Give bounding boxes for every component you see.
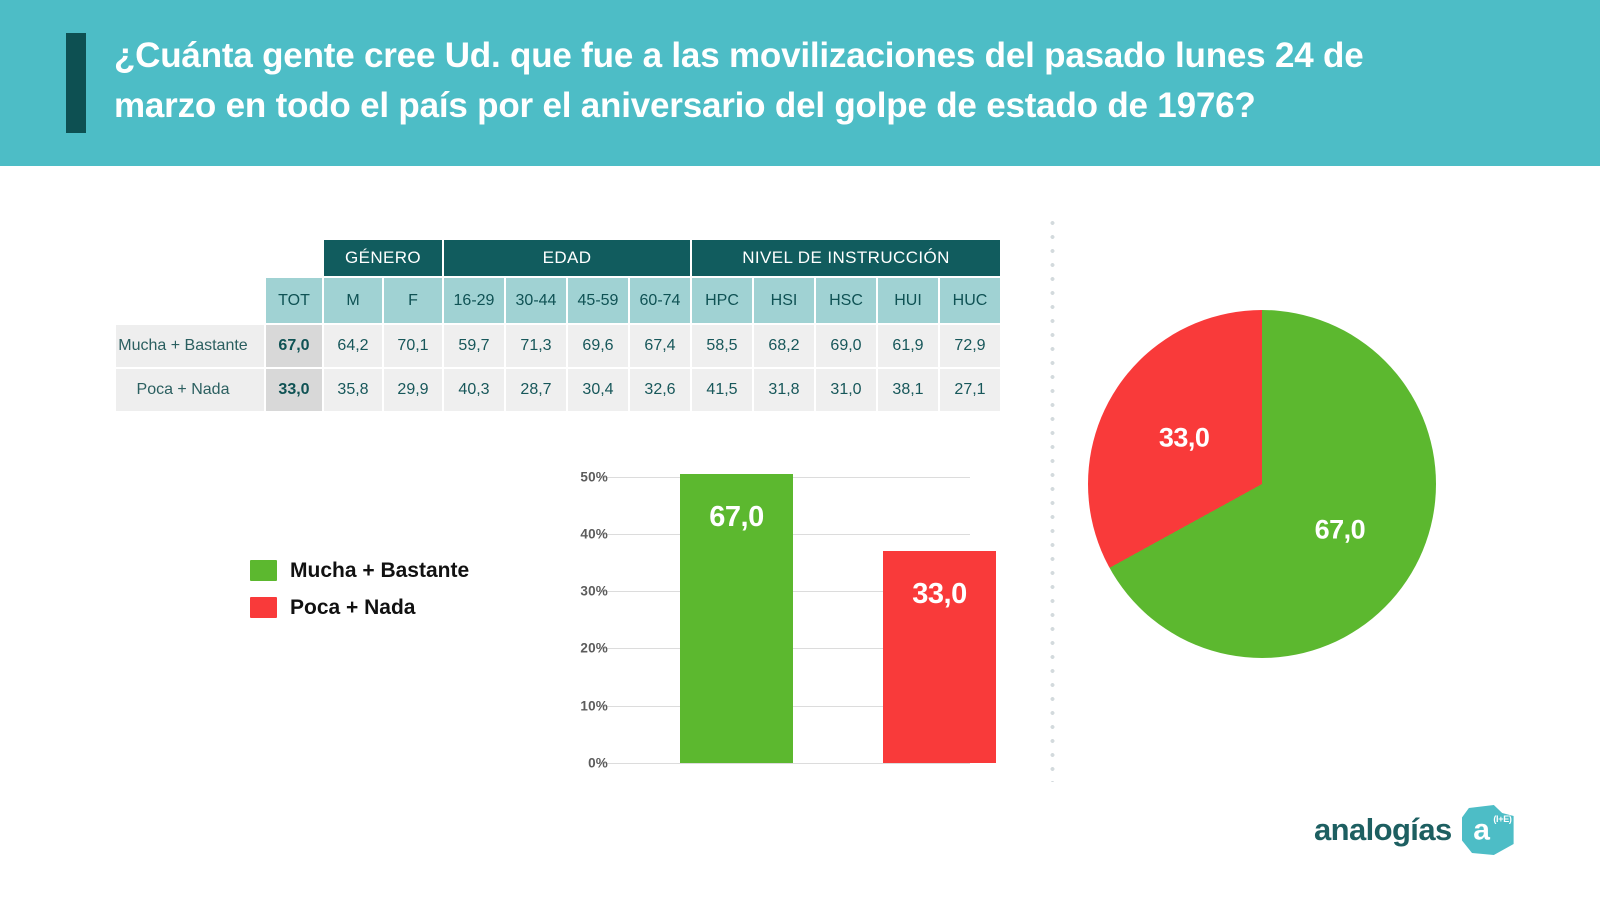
pie-chart: 67,0 33,0: [1088, 310, 1436, 658]
cell-poca-hui: 38,1: [878, 369, 938, 411]
group-header-nivel-instruccion: NIVEL DE INSTRUCCIÓN: [692, 240, 1000, 276]
cell-poca-f: 29,9: [384, 369, 442, 411]
group-header-edad: EDAD: [444, 240, 690, 276]
cell-poca-16-29: 40,3: [444, 369, 504, 411]
column-header-hui: HUI: [878, 278, 938, 323]
pie-slice-label-poca-nada: 33,0: [1159, 422, 1210, 453]
legend-swatch-red: [250, 597, 277, 618]
bar-poca-nada: 33,0: [883, 551, 996, 763]
table-row: Mucha + Bastante 67,0 64,2 70,1 59,7 71,…: [116, 325, 1000, 367]
cell-poca-30-44: 28,7: [506, 369, 566, 411]
group-header-genero: GÉNERO: [324, 240, 442, 276]
cell-mucha-m: 64,2: [324, 325, 382, 367]
cell-mucha-30-44: 71,3: [506, 325, 566, 367]
legend-label-poca-nada: Poca + Nada: [290, 596, 415, 620]
bar-mucha-bastante: 67,0: [680, 474, 793, 763]
column-header-16-29: 16-29: [444, 278, 504, 323]
header-banner: ¿Cuánta gente cree Ud. que fue a las mov…: [0, 0, 1600, 166]
cell-mucha-f: 70,1: [384, 325, 442, 367]
cell-mucha-huc: 72,9: [940, 325, 1000, 367]
infographic-page: ¿Cuánta gente cree Ud. que fue a las mov…: [0, 0, 1600, 909]
cell-poca-45-59: 30,4: [568, 369, 628, 411]
column-header-30-44: 30-44: [506, 278, 566, 323]
y-axis-label-30pct: 30%: [560, 584, 608, 599]
group-header-blank-label: [116, 240, 264, 276]
column-header-hsi: HSI: [754, 278, 814, 323]
cell-mucha-hpc: 58,5: [692, 325, 752, 367]
row-label-poca-nada: Poca + Nada: [116, 369, 264, 411]
cell-mucha-45-59: 69,6: [568, 325, 628, 367]
logo-wordmark: analogías: [1314, 812, 1452, 848]
bar-chart: 0%10%20%30%40%50%67,033,0: [560, 448, 970, 778]
header-accent-bar: [66, 33, 86, 133]
legend-swatch-green: [250, 560, 277, 581]
cell-mucha-hsc: 69,0: [816, 325, 876, 367]
cell-mucha-16-29: 59,7: [444, 325, 504, 367]
brand-logo: analogías a (I+E): [1314, 805, 1514, 855]
cell-poca-hpc: 41,5: [692, 369, 752, 411]
table-row: Poca + Nada 33,0 35,8 29,9 40,3 28,7 30,…: [116, 369, 1000, 411]
column-header-hsc: HSC: [816, 278, 876, 323]
column-header-45-59: 45-59: [568, 278, 628, 323]
y-axis-label-20pct: 20%: [560, 641, 608, 656]
column-header-60-74: 60-74: [630, 278, 690, 323]
y-axis-label-40pct: 40%: [560, 526, 608, 541]
page-title: ¿Cuánta gente cree Ud. que fue a las mov…: [114, 31, 1474, 130]
bar-chart-plot-area: 0%10%20%30%40%50%67,033,0: [620, 448, 970, 763]
cell-poca-huc: 27,1: [940, 369, 1000, 411]
y-axis-label-10pct: 10%: [560, 698, 608, 713]
y-axis-label-50pct: 50%: [560, 469, 608, 484]
cell-poca-m: 35,8: [324, 369, 382, 411]
column-header-blank: [116, 278, 264, 323]
legend-item-mucha-bastante: Mucha + Bastante: [250, 552, 469, 589]
cell-mucha-60-74: 67,4: [630, 325, 690, 367]
cell-mucha-tot: 67,0: [266, 325, 322, 367]
cell-mucha-hui: 61,9: [878, 325, 938, 367]
row-label-mucha-bastante: Mucha + Bastante: [116, 325, 264, 367]
y-axis-label-0pct: 0%: [560, 756, 608, 771]
crosstab: GÉNERO EDAD NIVEL DE INSTRUCCIÓN TOT M F…: [114, 238, 1002, 413]
legend-item-poca-nada: Poca + Nada: [250, 589, 469, 626]
gridline-40pct: [620, 534, 970, 535]
chart-legend: Mucha + Bastante Poca + Nada: [250, 552, 469, 626]
cell-poca-tot: 33,0: [266, 369, 322, 411]
group-header-blank-tot: [266, 240, 322, 276]
pie-slice-label-mucha-bastante: 67,0: [1315, 515, 1366, 546]
logo-badge-superscript: (I+E): [1493, 814, 1511, 824]
cell-poca-hsc: 31,0: [816, 369, 876, 411]
gridline-0pct: [620, 763, 970, 764]
legend-label-mucha-bastante: Mucha + Bastante: [290, 559, 469, 583]
group-header-row: GÉNERO EDAD NIVEL DE INSTRUCCIÓN: [116, 240, 1000, 276]
bar-value-label-mucha-bastante: 67,0: [680, 501, 793, 534]
column-header-hpc: HPC: [692, 278, 752, 323]
crosstab-container: GÉNERO EDAD NIVEL DE INSTRUCCIÓN TOT M F…: [114, 238, 1002, 413]
gridline-50pct: [620, 477, 970, 478]
logo-badge-icon: a (I+E): [1462, 805, 1514, 855]
cell-poca-hsi: 31,8: [754, 369, 814, 411]
column-header-huc: HUC: [940, 278, 1000, 323]
cell-mucha-hsi: 68,2: [754, 325, 814, 367]
pie-chart-disc: [1088, 310, 1436, 658]
bar-value-label-poca-nada: 33,0: [883, 578, 996, 611]
section-divider: [1050, 216, 1055, 782]
column-header-f: F: [384, 278, 442, 323]
column-header-tot: TOT: [266, 278, 322, 323]
cell-poca-60-74: 32,6: [630, 369, 690, 411]
column-header-row: TOT M F 16-29 30-44 45-59 60-74 HPC HSI …: [116, 278, 1000, 323]
column-header-m: M: [324, 278, 382, 323]
